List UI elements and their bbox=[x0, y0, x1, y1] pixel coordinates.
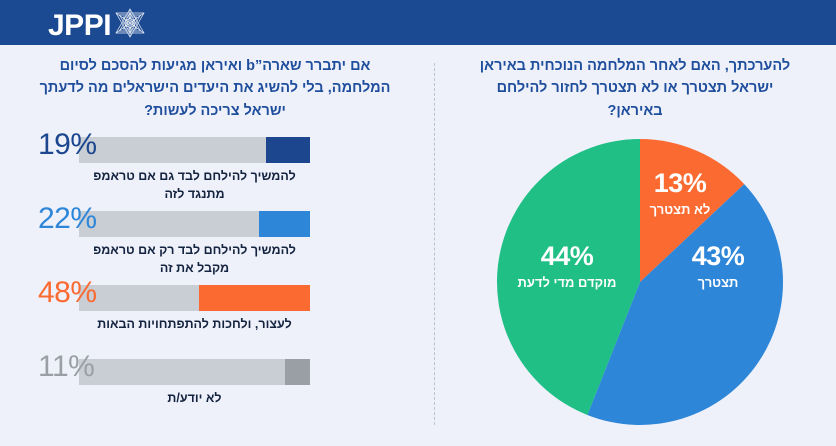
bar-track bbox=[79, 137, 310, 163]
bar-track bbox=[79, 285, 310, 311]
bar-value-label: 19% bbox=[38, 128, 97, 162]
bar-value-label: 11% bbox=[38, 350, 94, 384]
pie-slice-value: 43% bbox=[670, 240, 766, 274]
bar-row: 48% לעצור, ולחכות להתפתחויות הבאות bbox=[10, 285, 420, 359]
bar-fill bbox=[199, 285, 310, 311]
bar-fill bbox=[259, 211, 310, 237]
logo-text: JPPI bbox=[48, 11, 111, 41]
pie-slice-name: מוקדם מדי לדעת bbox=[512, 275, 622, 291]
pie-slice-label: 44% מוקדם מדי לדעת bbox=[512, 240, 622, 291]
bar-fill bbox=[266, 137, 310, 163]
bar-row: 22% להמשיך להילחם לבד רק אם טראמפ מקבל א… bbox=[10, 211, 420, 285]
bar-category-label: להמשיך להילחם לבד גם אם טראמפ מתנגד לזה bbox=[79, 167, 310, 203]
pie-slice-name: תצטרך bbox=[670, 275, 766, 291]
bar-track bbox=[79, 211, 310, 237]
right-panel: להערכתך, האם לאחר המלחמה הנוכחית באיראן … bbox=[440, 55, 830, 435]
pie-chart: 13% לא תצטרך 43% תצטרך 44% מוקדם מדי לדע… bbox=[485, 137, 785, 427]
pie-slice-label: 43% תצטרך bbox=[670, 240, 766, 291]
star-of-david-icon bbox=[113, 7, 147, 44]
pie-slice-value: 13% bbox=[643, 167, 717, 201]
left-panel: אם יתברר שארה”b ואיראן מגיעות להסכם לסיו… bbox=[10, 55, 420, 435]
right-question-title: להערכתך, האם לאחר המלחמה הנוכחית באיראן … bbox=[440, 55, 830, 122]
bar-value-label: 22% bbox=[38, 202, 97, 236]
bar-row: 19% להמשיך להילחם לבד גם אם טראמפ מתנגד … bbox=[10, 137, 420, 211]
panel-divider bbox=[434, 63, 435, 425]
pie-slice-label: 13% לא תצטרך bbox=[643, 167, 717, 218]
bar-value-label: 48% bbox=[38, 276, 97, 310]
pie-slice-name: לא תצטרך bbox=[643, 202, 717, 218]
bar-row: 11% לא יודע/ת bbox=[10, 359, 420, 433]
bar-track bbox=[79, 359, 310, 385]
bar-chart: 19% להמשיך להילחם לבד גם אם טראמפ מתנגד … bbox=[10, 137, 420, 433]
header-bar: JPPI bbox=[0, 0, 836, 45]
bar-category-label: להמשיך להילחם לבד רק אם טראמפ מקבל את זה bbox=[79, 241, 310, 277]
logo[interactable]: JPPI bbox=[48, 7, 147, 44]
bar-category-label: לעצור, ולחכות להתפתחויות הבאות bbox=[79, 315, 310, 333]
bar-category-label: לא יודע/ת bbox=[79, 389, 310, 407]
pie-slice-value: 44% bbox=[512, 240, 622, 274]
left-question-title: אם יתברר שארה”b ואיראן מגיעות להסכם לסיו… bbox=[10, 55, 420, 122]
bar-fill bbox=[285, 359, 310, 385]
